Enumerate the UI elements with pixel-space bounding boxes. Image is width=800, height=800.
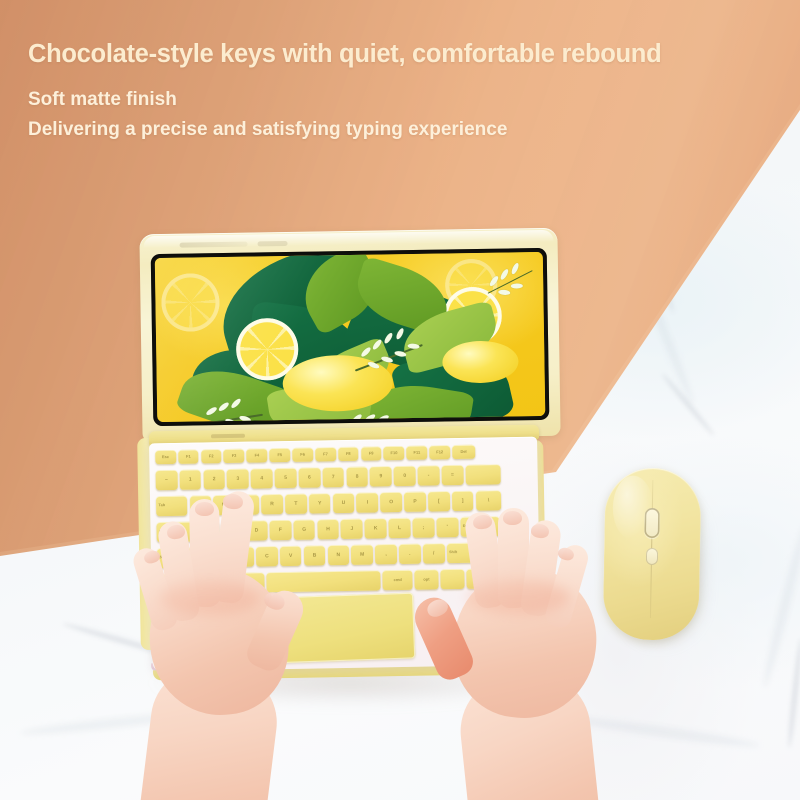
screen-bezel: [151, 248, 550, 426]
key-i[interactable]: I: [356, 492, 378, 512]
key-label: 9: [379, 474, 382, 479]
key-del[interactable]: Del: [452, 445, 475, 459]
tablet-screen: [155, 252, 546, 422]
key-label: 3: [236, 476, 239, 481]
key-label: -: [428, 473, 430, 478]
key--[interactable]: -: [418, 465, 440, 485]
key-label: F10: [391, 451, 398, 455]
key-f5[interactable]: F5: [269, 448, 290, 462]
mouse-dpi-button[interactable]: [646, 548, 658, 565]
key-m[interactable]: M: [351, 545, 373, 565]
key-f11[interactable]: F11: [406, 446, 427, 460]
key-cmd[interactable]: cmd: [383, 570, 413, 591]
case-vent-right: [258, 241, 288, 246]
key-label: J: [350, 526, 353, 531]
key-f2[interactable]: F2: [201, 449, 222, 463]
key-label: F6: [300, 453, 305, 457]
key-label: 5: [284, 476, 287, 481]
key-label: ~: [165, 478, 168, 483]
key-label: O: [389, 500, 393, 505]
key-label: F5: [277, 453, 282, 457]
key-label: .: [409, 551, 410, 556]
mouse-body[interactable]: [603, 467, 702, 641]
key-label: P: [413, 499, 416, 504]
key-label: =: [451, 473, 454, 478]
left-knuckle-shading: [160, 581, 260, 615]
key-label: [: [438, 499, 440, 504]
tablet-lid: [139, 228, 560, 443]
key-label: F3: [232, 454, 237, 458]
key-esc[interactable]: Esc: [155, 450, 176, 464]
key-label: 1: [189, 477, 192, 482]
key-f9[interactable]: F9: [361, 446, 382, 460]
right-middle-nail: [503, 511, 522, 525]
key--[interactable]: =: [441, 465, 463, 485]
key-f8[interactable]: F8: [338, 447, 359, 461]
key-label: 6: [308, 475, 311, 480]
key-label: F9: [369, 451, 374, 455]
key-label: Del: [460, 450, 466, 454]
hinge-notch: [211, 434, 245, 439]
key-spacebar[interactable]: [465, 464, 501, 485]
key-8[interactable]: 8: [346, 467, 368, 487]
key-label: 4: [260, 476, 263, 481]
key-label: ,: [385, 552, 386, 557]
key-f4[interactable]: F4: [246, 448, 267, 462]
left-middle-nail: [195, 502, 214, 516]
key-label: F8: [346, 452, 351, 456]
case-vent-left: [180, 242, 248, 248]
key-l[interactable]: L: [389, 518, 411, 538]
key-label: 8: [356, 474, 359, 479]
right-knuckle-shading: [466, 580, 570, 614]
key-label: L: [398, 526, 401, 531]
key-label: 0: [403, 473, 406, 478]
key-f10[interactable]: F10: [384, 446, 405, 460]
key-o[interactable]: O: [380, 492, 402, 512]
product-photo-tablet-keyboard: EscF1F2F3F4F5F6F7F8F9F10F11F12Del~123456…: [0, 0, 800, 800]
key-label: Esc: [162, 455, 169, 459]
key-label: F4: [255, 453, 260, 457]
key--[interactable]: ,: [375, 544, 397, 564]
key-k[interactable]: K: [365, 518, 387, 538]
key-0[interactable]: 0: [394, 466, 416, 486]
key-f1[interactable]: F1: [178, 450, 199, 464]
key-label: F11: [413, 451, 420, 455]
key-label: \: [488, 498, 489, 503]
key-label: F1: [186, 455, 191, 459]
key-label: ]: [462, 498, 464, 503]
key-label: F12: [436, 450, 443, 454]
wireless-mouse[interactable]: [602, 467, 705, 647]
key-label: K: [374, 526, 378, 531]
key-f12[interactable]: F12: [429, 445, 450, 459]
key-f3[interactable]: F3: [224, 449, 245, 463]
key-9[interactable]: 9: [370, 466, 392, 486]
left-hand: [120, 485, 350, 800]
key-f6[interactable]: F6: [292, 448, 313, 462]
key-label: F2: [209, 454, 214, 458]
screen-glare: [155, 252, 546, 422]
key--[interactable]: .: [399, 544, 421, 564]
key-label: M: [360, 552, 364, 557]
key-f7[interactable]: F7: [315, 447, 336, 461]
key-label: 2: [213, 477, 216, 482]
key-label: 7: [332, 475, 335, 480]
key-label: cmd: [394, 578, 402, 582]
key-label: I: [367, 500, 368, 505]
key-label: F7: [323, 452, 328, 456]
banner-stage: Chocolate-style keys with quiet, comfort…: [0, 0, 800, 800]
